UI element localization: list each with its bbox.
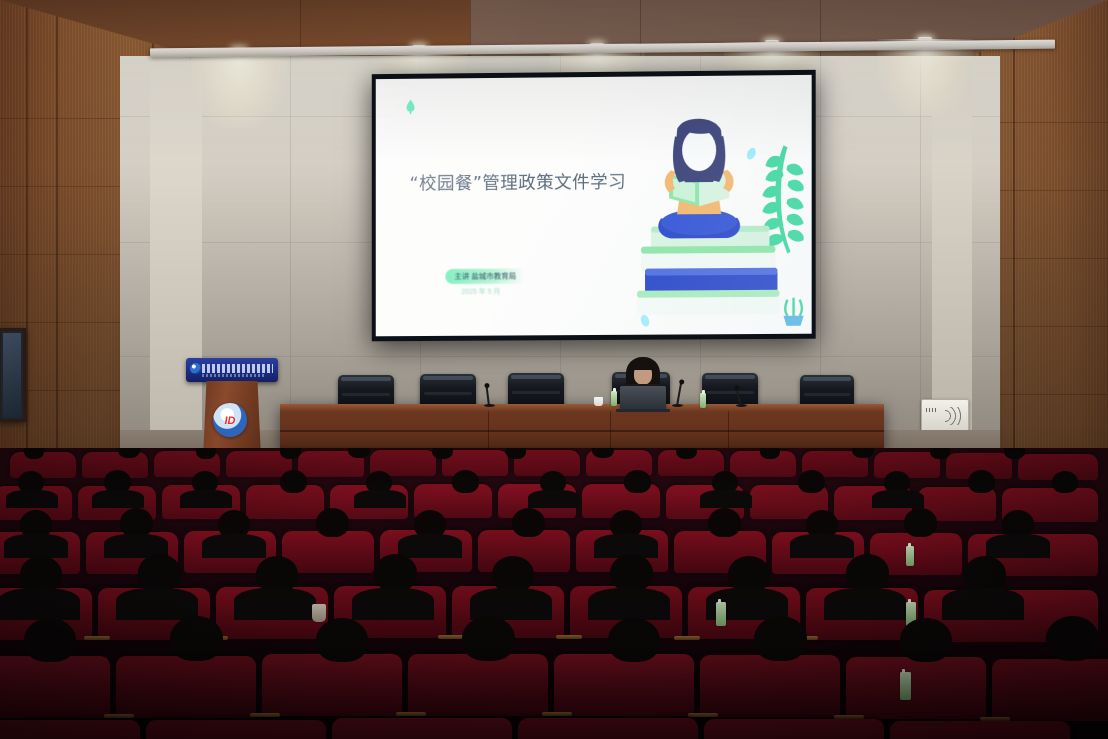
water-bottle — [900, 672, 911, 700]
paper-cup — [594, 397, 603, 406]
panel-label — [926, 408, 938, 412]
lectern: ID — [186, 358, 278, 458]
water-bottle — [700, 393, 706, 408]
table-chair — [420, 374, 476, 408]
lectern-banner-text — [202, 364, 273, 373]
projection-screen: “校园餐”管理政策文件学习 主讲 盐城市教育局 2025 年 5 月 — [376, 75, 812, 336]
lectern-badge-icon — [190, 363, 201, 374]
microphone-base — [484, 404, 495, 407]
slide-date: 2025 年 5 月 — [461, 286, 595, 297]
projection-screen-frame: “校园餐”管理政策文件学习 主讲 盐城市教育局 2025 年 5 月 — [372, 70, 816, 341]
slide-subtitle-block: 主讲 盐城市教育局 2025 年 5 月 — [445, 265, 595, 297]
microphone-base — [672, 404, 683, 407]
travel-mug — [312, 604, 326, 622]
airflow-icon — [945, 407, 963, 425]
slide-illustration — [615, 113, 804, 333]
laptop — [620, 386, 666, 409]
plant-pot-icon — [783, 298, 803, 326]
lectern-emblem-mark: ID — [225, 415, 236, 427]
wall-artwork — [0, 328, 26, 422]
table-top-edge — [280, 404, 884, 411]
lectern-banner — [186, 358, 278, 382]
lectern-emblem: ID — [213, 403, 247, 437]
water-bottle — [611, 391, 617, 406]
table-chair — [508, 373, 564, 407]
presenter-fringe — [632, 362, 654, 370]
lectern-banner-subtext — [202, 374, 266, 377]
slide-presenter: 主讲 盐城市教育局 — [445, 268, 525, 284]
audience-area — [0, 448, 1108, 739]
auditorium-photo: “校园餐”管理政策文件学习 主讲 盐城市教育局 2025 年 5 月 — [0, 0, 1108, 739]
microphone-base — [736, 404, 747, 407]
table-chair — [702, 373, 758, 407]
water-bottle — [906, 546, 914, 566]
plant-icon — [404, 99, 418, 115]
head-table — [280, 404, 884, 452]
water-bottle — [716, 602, 726, 626]
table-groove — [280, 430, 884, 432]
